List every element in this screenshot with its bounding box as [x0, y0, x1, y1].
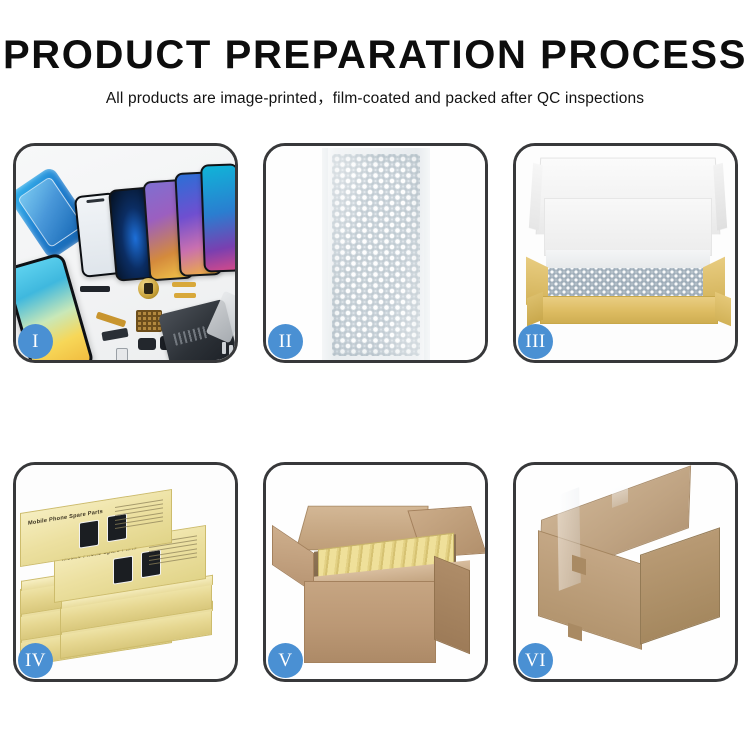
- earpiece-speaker-part: [80, 286, 110, 292]
- process-step-card-1: I: [13, 143, 238, 363]
- carton-side-panel: [434, 556, 470, 655]
- step-badge-1: I: [18, 324, 53, 359]
- step-5-illustration: [266, 465, 485, 679]
- step-2-illustration: [266, 146, 485, 360]
- step-badge-4: IV: [18, 643, 53, 678]
- phone-display-teal: [200, 163, 235, 272]
- inner-box-back-wall: [544, 198, 712, 256]
- page-subtitle: All products are image-printed，film-coat…: [0, 86, 750, 108]
- step-badge-2: II: [268, 324, 303, 359]
- page-title: PRODUCT PREPARATION PROCESS: [0, 34, 750, 77]
- page-root: PRODUCT PREPARATION PROCESS All products…: [0, 0, 750, 750]
- flex-cable-part-b: [174, 293, 196, 298]
- sim-tray-part: [116, 348, 128, 360]
- process-step-card-3: III: [513, 143, 738, 363]
- header: PRODUCT PREPARATION PROCESS All products…: [0, 34, 750, 108]
- carton-front-panel: [304, 581, 436, 663]
- step-badge-6: VI: [518, 643, 553, 678]
- camera-module-part: [138, 338, 156, 350]
- step-3-illustration: [516, 146, 735, 360]
- process-step-card-6: VI: [513, 462, 738, 682]
- process-step-grid: I II III: [13, 143, 737, 721]
- process-step-card-2: II: [263, 143, 488, 363]
- step-badge-5: V: [268, 643, 303, 678]
- box-art-screen-a: [113, 556, 133, 585]
- flex-cable-part-c: [96, 312, 127, 328]
- flex-cable-part-a: [172, 282, 196, 287]
- step-4-illustration: Mobile Phone Spare Parts Mobile Phone Sp…: [16, 465, 235, 679]
- step-badge-3: III: [518, 324, 553, 359]
- box-art-screen-c: [79, 520, 99, 549]
- step-1-illustration: [16, 146, 235, 360]
- vibrator-motor-part: [138, 278, 159, 299]
- packing-tape-strip: [557, 487, 581, 591]
- inner-box-front-panel: [540, 296, 718, 324]
- retail-box-stack: Mobile Phone Spare Parts Mobile Phone Sp…: [20, 479, 234, 675]
- connector-chip-part: [136, 310, 162, 332]
- step-6-illustration: [516, 465, 735, 679]
- sealed-carton-side: [640, 527, 720, 645]
- screws-group: [222, 342, 235, 360]
- process-step-card-4: Mobile Phone Spare Parts Mobile Phone Sp…: [13, 462, 238, 682]
- process-step-card-5: V: [263, 462, 488, 682]
- bubble-wrap-bubbles: [332, 154, 420, 356]
- flex-cable-part-d: [101, 328, 128, 341]
- box-spec-lines-back: [115, 499, 163, 541]
